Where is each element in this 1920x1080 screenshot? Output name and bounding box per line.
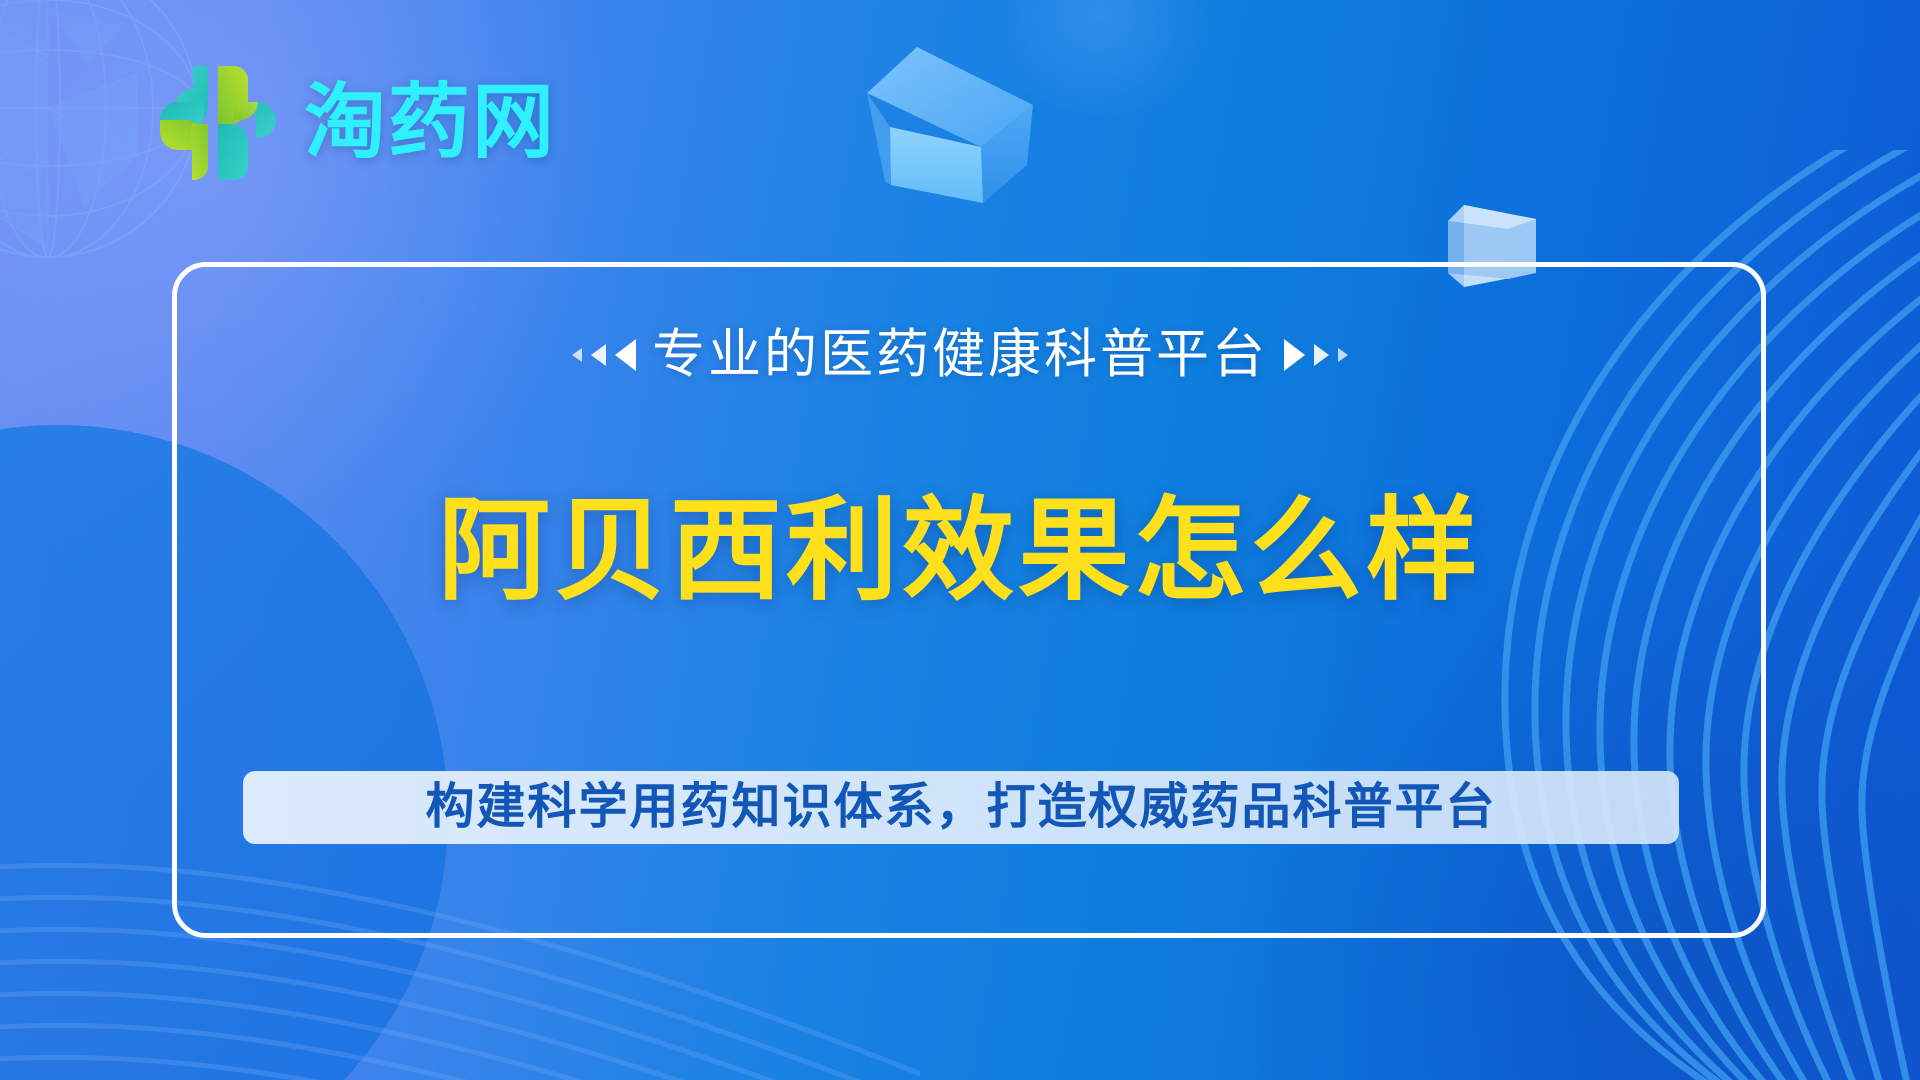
pinwheel-cross-icon xyxy=(148,58,278,188)
arrow-left-large-icon xyxy=(615,339,636,371)
arrow-right-large-icon xyxy=(1284,339,1305,371)
promo-banner: 淘药网 专业的医药健康科普平台 阿贝西利效果怎么样 构建科学用药知识体系，打造权… xyxy=(0,0,1920,1080)
left-arrow-group xyxy=(572,339,636,371)
tagline-bar: 构建科学用药知识体系，打造权威药品科普平台 xyxy=(243,771,1679,844)
subtitle-row: 专业的医药健康科普平台 xyxy=(0,328,1920,381)
brand-logo[interactable]: 淘药网 xyxy=(148,58,556,188)
brand-name: 淘药网 xyxy=(304,82,556,164)
arrow-left-small-icon xyxy=(572,348,582,362)
page-title: 阿贝西利效果怎么样 xyxy=(0,488,1920,613)
subtitle-text: 专业的医药健康科普平台 xyxy=(652,328,1268,381)
arrow-right-medium-icon xyxy=(1314,344,1329,366)
arrow-right-small-icon xyxy=(1338,348,1348,362)
arrow-left-medium-icon xyxy=(591,344,606,366)
tagline-text: 构建科学用药知识体系，打造权威药品科普平台 xyxy=(425,783,1496,832)
right-arrow-group xyxy=(1284,339,1348,371)
cube-3d-icon xyxy=(865,35,1035,255)
